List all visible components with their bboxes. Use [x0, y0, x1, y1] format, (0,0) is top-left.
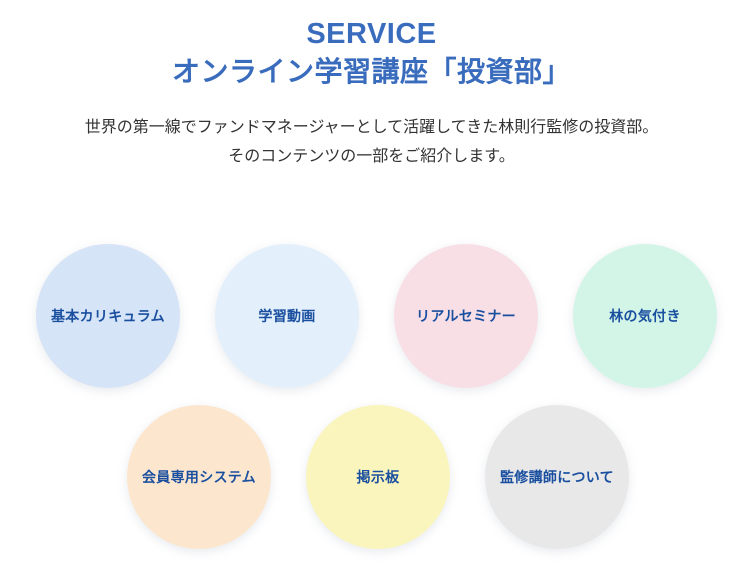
service-circle-label: 会員専用システム: [142, 469, 256, 486]
lead-paragraph: 世界の第一線でファンドマネージャーとして活躍してきた林則行監修の投資部。 そのコ…: [0, 113, 743, 172]
service-circle[interactable]: 会員専用システム: [127, 405, 271, 549]
page-title-jp: オンライン学習講座「投資部」: [0, 54, 743, 90]
service-circle[interactable]: 学習動画: [215, 244, 359, 388]
service-circle[interactable]: 林の気付き: [573, 244, 717, 388]
lead-line-2: そのコンテンツの一部をご紹介します。: [0, 142, 743, 172]
service-header: SERVICE オンライン学習講座「投資部」: [0, 0, 743, 91]
page-title-en: SERVICE: [0, 16, 743, 52]
service-circle-label: 監修講師について: [500, 469, 614, 486]
service-circle-label: 掲示板: [357, 469, 400, 486]
service-circle-label: リアルセミナー: [416, 308, 516, 325]
service-circle-label: 林の気付き: [609, 308, 681, 325]
service-circle-label: 基本カリキュラム: [51, 308, 165, 325]
lead-line-1: 世界の第一線でファンドマネージャーとして活躍してきた林則行監修の投資部。: [0, 113, 743, 143]
service-circle[interactable]: 監修講師について: [485, 405, 629, 549]
service-circle[interactable]: リアルセミナー: [394, 244, 538, 388]
service-circle[interactable]: 掲示板: [306, 405, 450, 549]
service-circle[interactable]: 基本カリキュラム: [36, 244, 180, 388]
service-circle-label: 学習動画: [258, 308, 315, 325]
